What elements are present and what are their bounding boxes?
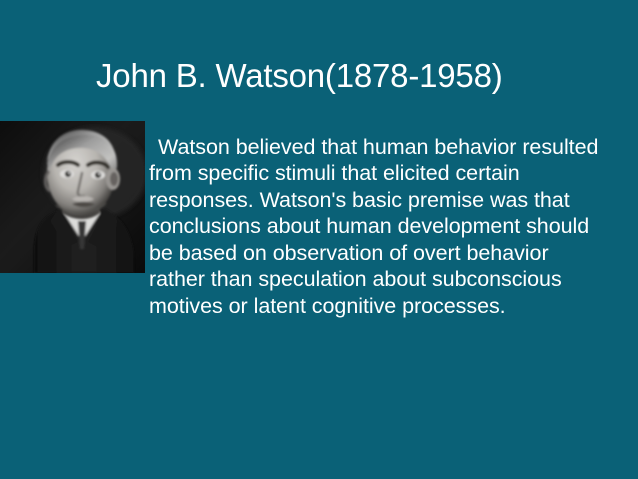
portrait-photo — [0, 121, 145, 273]
portrait-photo-icon — [0, 121, 145, 273]
slide-canvas: John B. Watson(1878-1958) — [0, 0, 638, 479]
page-title: John B. Watson(1878-1958) — [96, 56, 616, 96]
body-paragraph: Watson believed that human behavior resu… — [149, 134, 609, 320]
